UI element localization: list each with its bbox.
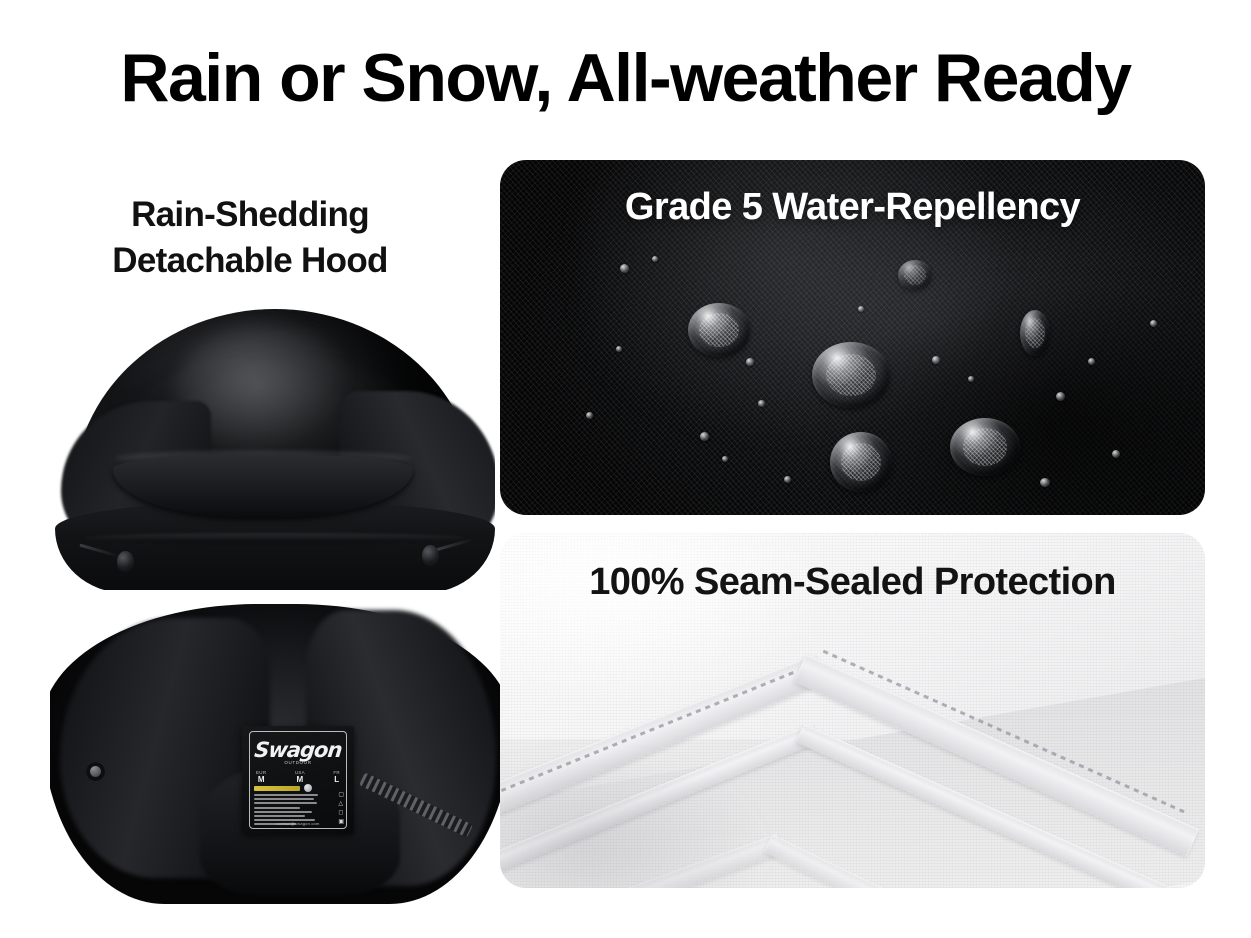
hood-cord-toggle-right: [422, 545, 439, 566]
water-droplet: [898, 260, 932, 290]
micro-droplet: [858, 306, 864, 312]
hood-heading-line2: Detachable Hood: [20, 238, 480, 284]
water-droplet: [812, 342, 890, 408]
micro-droplet: [932, 356, 940, 364]
page-title: Rain or Snow, All-weather Ready: [0, 42, 1251, 114]
label-footer-text: contact@swagon.com: [242, 821, 354, 826]
snap-grommet-icon: [86, 762, 105, 781]
brand-subtitle: OUTDOOR: [242, 760, 354, 765]
size-value-fr: L: [333, 775, 340, 784]
size-row: EUR M USA M FR L: [256, 770, 340, 784]
hood-seam-line: [85, 533, 465, 543]
hood-photo: [55, 305, 495, 590]
warning-strip: [254, 786, 300, 791]
warning-symbol-icon: [304, 784, 312, 792]
micro-droplet: [722, 456, 728, 462]
water-droplet: [830, 432, 892, 492]
caption-seam-sealed: 100% Seam-Sealed Protection: [500, 561, 1205, 604]
dry-icon: ◻: [338, 810, 344, 817]
left-feature-column: Rain-Shedding Detachable Hood: [20, 150, 480, 910]
size-cell-eur: EUR M: [256, 770, 266, 784]
micro-droplet: [1088, 358, 1095, 365]
micro-droplet: [700, 432, 709, 441]
brand-care-label: Swagon OUTDOOR EUR M USA M FR L: [242, 726, 354, 834]
bleach-icon: △: [338, 801, 344, 808]
water-droplet: [1020, 310, 1050, 356]
micro-droplet: [620, 264, 629, 273]
size-value-usa: M: [295, 775, 305, 784]
micro-droplet: [758, 400, 765, 407]
micro-droplet: [968, 376, 974, 382]
size-cell-fr: FR L: [333, 770, 340, 784]
size-cell-usa: USA M: [295, 770, 305, 784]
caption-water-repellency: Grade 5 Water-Repellency: [500, 186, 1205, 229]
micro-droplet: [616, 346, 622, 352]
micro-droplet: [1150, 320, 1157, 327]
micro-droplet: [586, 412, 593, 419]
micro-droplet: [1056, 392, 1065, 401]
hood-cord-toggle-left: [117, 551, 134, 572]
hood-heading: Rain-Shedding Detachable Hood: [20, 192, 480, 284]
brand-logo: Swagon: [242, 738, 354, 762]
water-droplet: [688, 303, 750, 357]
water-droplet: [950, 418, 1020, 476]
panel-water-repellency: Grade 5 Water-Repellency: [500, 160, 1205, 515]
hood-heading-line1: Rain-Shedding: [20, 192, 480, 238]
infographic-root: Rain or Snow, All-weather Ready Rain-She…: [0, 0, 1251, 938]
seam-panel-highlight: [500, 533, 845, 711]
collar-photo: Swagon OUTDOOR EUR M USA M FR L: [50, 598, 500, 904]
seam-panel-shadow: [500, 753, 768, 888]
micro-droplet: [746, 358, 754, 366]
micro-droplet: [784, 476, 791, 483]
micro-droplet: [1040, 478, 1050, 487]
wash-icon: ▢: [338, 792, 344, 799]
micro-droplet: [1112, 450, 1120, 458]
panel-seam-sealed: 100% Seam-Sealed Protection: [500, 533, 1205, 888]
micro-droplet: [652, 256, 658, 262]
size-value-eur: M: [256, 775, 266, 784]
